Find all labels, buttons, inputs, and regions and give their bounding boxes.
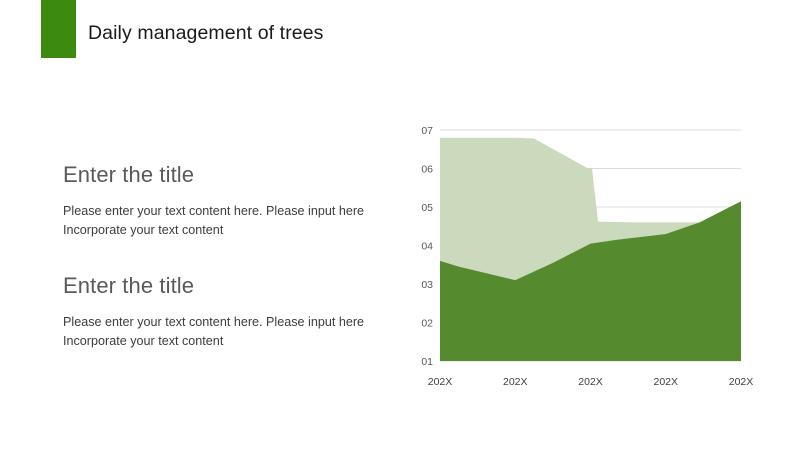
y-tick-label: 04 xyxy=(421,241,433,253)
text-column: Enter the title Please enter your text c… xyxy=(63,160,393,382)
page-title: Daily management of trees xyxy=(88,20,324,46)
y-tick-label: 05 xyxy=(421,202,433,214)
text-block-1-heading: Enter the title xyxy=(63,160,393,190)
x-tick-label: 202X xyxy=(729,376,754,388)
chart-area-series xyxy=(440,138,741,361)
y-tick-label: 06 xyxy=(421,164,433,176)
title-accent-bar xyxy=(41,0,76,58)
y-tick-label: 01 xyxy=(421,356,433,368)
text-block-1: Enter the title Please enter your text c… xyxy=(63,160,393,239)
slide-header: Daily management of trees xyxy=(0,0,799,70)
x-tick-label: 202X xyxy=(578,376,603,388)
y-tick-label: 02 xyxy=(421,318,433,330)
text-block-2: Enter the title Please enter your text c… xyxy=(63,271,393,350)
chart-y-axis-labels: 07060504030201 xyxy=(421,125,433,368)
y-tick-label: 07 xyxy=(421,125,433,137)
x-tick-label: 202X xyxy=(503,376,528,388)
text-block-2-body: Please enter your text content here. Ple… xyxy=(63,313,379,350)
area-chart-svg: 07060504030201 202X202X202X202X202X xyxy=(405,118,760,393)
x-tick-label: 202X xyxy=(653,376,678,388)
y-tick-label: 03 xyxy=(421,279,433,291)
text-block-1-body: Please enter your text content here. Ple… xyxy=(63,202,379,239)
x-tick-label: 202X xyxy=(428,376,453,388)
text-block-2-heading: Enter the title xyxy=(63,271,393,301)
chart-x-axis-labels: 202X202X202X202X202X xyxy=(428,376,754,388)
area-chart: 07060504030201 202X202X202X202X202X xyxy=(405,118,760,393)
